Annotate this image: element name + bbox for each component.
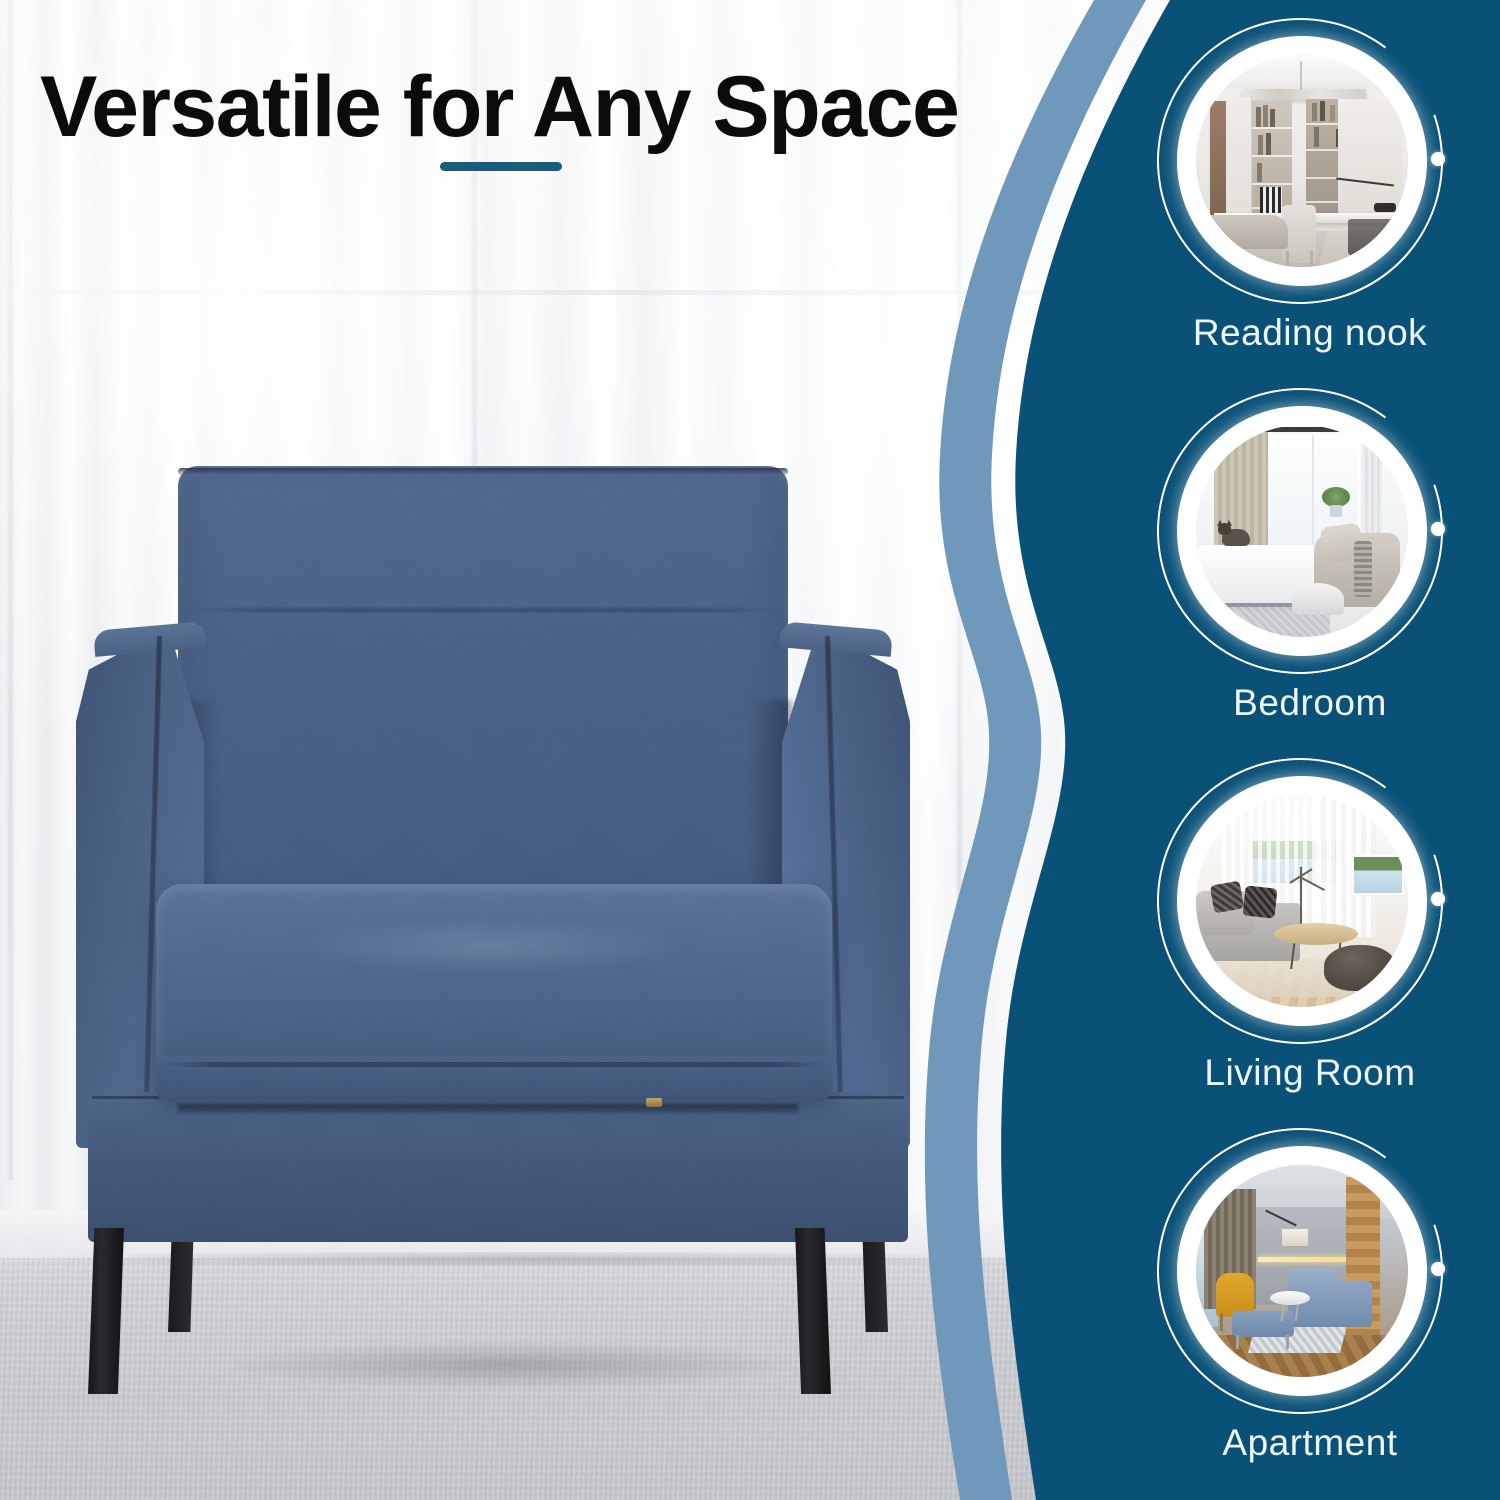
card-label: Reading nook <box>1145 312 1475 354</box>
use-case-card-list: Reading nook <box>0 0 1500 1500</box>
card-label: Living Room <box>1145 1052 1475 1094</box>
photo-ring-frame <box>1177 1146 1427 1396</box>
card-ring-stack <box>1145 18 1475 308</box>
ring-dot-icon <box>1431 152 1445 166</box>
ring-dot-icon <box>1431 1262 1445 1276</box>
reading-nook-photo <box>1196 55 1408 267</box>
marketing-infographic: Versatile for Any Space <box>0 0 1500 1500</box>
apartment-photo <box>1196 1165 1408 1377</box>
use-case-card-living-room[interactable]: Living Room <box>1145 758 1475 1048</box>
living-room-photo <box>1196 795 1408 1007</box>
card-label: Apartment <box>1145 1422 1475 1464</box>
photo-ring-frame <box>1177 36 1427 286</box>
use-case-card-bedroom[interactable]: Bedroom <box>1145 388 1475 678</box>
ring-dot-icon <box>1431 892 1445 906</box>
ring-dot-icon <box>1431 522 1445 536</box>
photo-ring-frame <box>1177 406 1427 656</box>
card-ring-stack <box>1145 388 1475 678</box>
bedroom-photo <box>1196 425 1408 637</box>
photo-ring-frame <box>1177 776 1427 1026</box>
card-label: Bedroom <box>1145 682 1475 724</box>
use-case-card-apartment[interactable]: Apartment <box>1145 1128 1475 1418</box>
card-ring-stack <box>1145 758 1475 1048</box>
card-ring-stack <box>1145 1128 1475 1418</box>
use-case-card-reading-nook[interactable]: Reading nook <box>1145 18 1475 308</box>
